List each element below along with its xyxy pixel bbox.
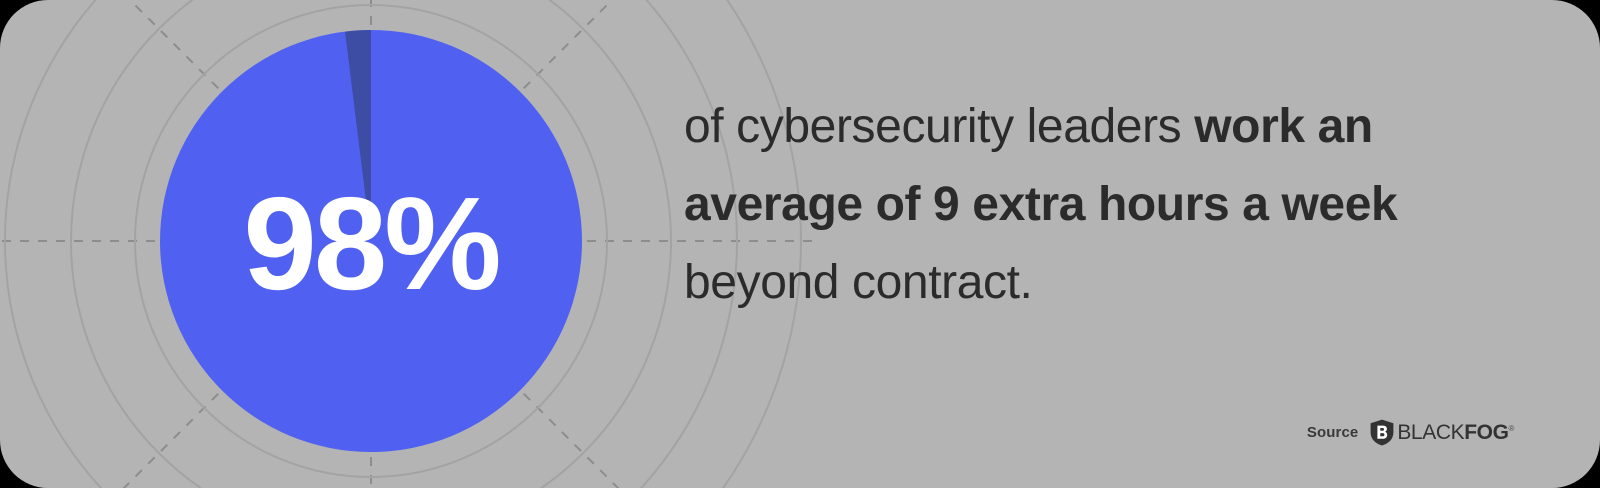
statement-lead: of cybersecurity leaders bbox=[684, 100, 1194, 153]
source-attribution: Source BLACKFOG® bbox=[1307, 419, 1514, 446]
blackfog-shield-icon bbox=[1370, 419, 1394, 446]
pie-center-value: 98% bbox=[160, 30, 582, 452]
source-label: Source bbox=[1307, 424, 1358, 441]
registered-trademark-icon: ® bbox=[1509, 424, 1515, 433]
pie-chart: 98% bbox=[160, 30, 582, 452]
statement-tail: beyond contract. bbox=[684, 256, 1033, 309]
statement-text: of cybersecurity leaders work an average… bbox=[684, 88, 1414, 322]
blackfog-logo[interactable]: BLACKFOG® bbox=[1370, 419, 1514, 446]
infographic-card: 98% of cybersecurity leaders work an ave… bbox=[0, 0, 1600, 488]
blackfog-wordmark: BLACKFOG® bbox=[1397, 421, 1514, 445]
wordmark-black: BLACK bbox=[1397, 421, 1464, 444]
wordmark-fog: FOG bbox=[1464, 421, 1508, 444]
